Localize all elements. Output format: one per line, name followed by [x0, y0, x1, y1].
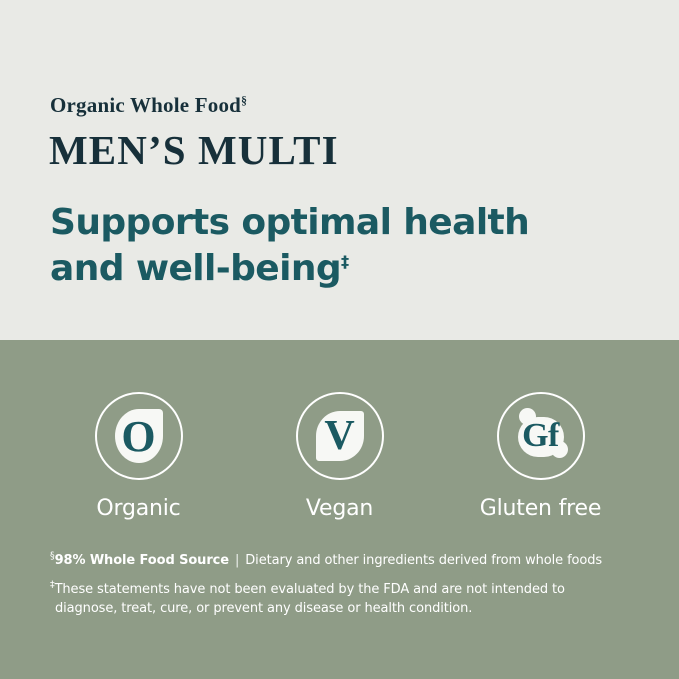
- badge-ring-vegan: V: [296, 392, 384, 480]
- eyebrow-footnote-marker: §: [241, 95, 247, 107]
- product-eyebrow-text: Organic Whole Food: [50, 93, 241, 117]
- badge-vegan: V Vegan: [239, 392, 440, 521]
- headline-section: Organic Whole Food§ MEN’S MULTI Supports…: [0, 0, 679, 340]
- badge-label-gluten-free: Gluten free: [480, 496, 601, 521]
- certifications-section: O Organic V Vegan: [0, 340, 679, 679]
- badge-label-vegan: Vegan: [306, 496, 373, 521]
- page-title: MEN’S MULTI: [49, 126, 339, 174]
- footnotes: §98% Whole Food Source|Dietary and other…: [50, 553, 639, 619]
- product-eyebrow: Organic Whole Food§: [50, 93, 247, 118]
- footnote-fda-disclaimer: ‡These statements have not been evaluate…: [50, 581, 590, 619]
- gluten-free-glyph: Gf: [510, 405, 572, 468]
- source-description-text: Dietary and other ingredients derived fr…: [245, 553, 602, 568]
- organic-leaf-icon: O: [108, 405, 170, 467]
- badge-organic: O Organic: [38, 392, 239, 521]
- footnote-separator: |: [229, 553, 245, 568]
- badge-gluten-free: Gf Gluten free: [440, 392, 641, 521]
- gluten-free-icon: Gf: [510, 405, 572, 467]
- vegan-leaf-icon: V: [309, 405, 371, 467]
- fda-line-1: These statements have not been evaluated…: [55, 582, 565, 597]
- claim-line-1: Supports optimal health: [50, 202, 529, 243]
- certification-badge-row: O Organic V Vegan: [0, 392, 679, 521]
- claim-footnote-marker: ‡: [341, 252, 349, 271]
- source-strong-text: 98% Whole Food Source: [55, 553, 229, 568]
- product-claim: Supports optimal health and well-being‡: [50, 200, 529, 292]
- badge-label-organic: Organic: [96, 496, 180, 521]
- badge-ring-gluten-free: Gf: [497, 392, 585, 480]
- product-marketing-panel: Organic Whole Food§ MEN’S MULTI Supports…: [0, 0, 679, 679]
- badge-ring-organic: O: [95, 392, 183, 480]
- vegan-glyph: V: [309, 405, 371, 469]
- claim-line-2: and well-being: [50, 248, 341, 289]
- footnote-whole-food-source: §98% Whole Food Source|Dietary and other…: [50, 553, 639, 568]
- fda-line-2: diagnose, treat, cure, or prevent any di…: [50, 600, 590, 619]
- organic-glyph: O: [108, 405, 170, 469]
